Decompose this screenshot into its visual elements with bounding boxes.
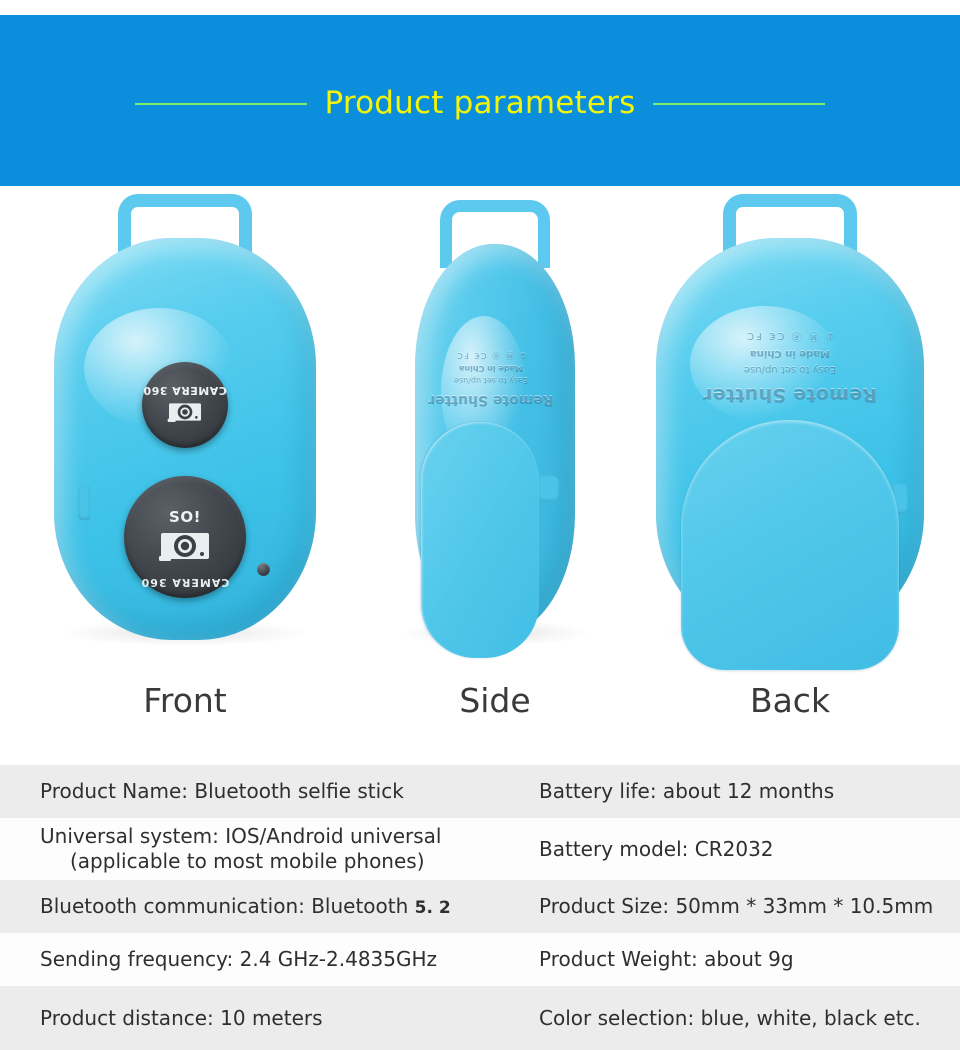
product-parameters-page: Product parameters CAMERA 360 bbox=[0, 0, 960, 1050]
battery-cover-back bbox=[681, 420, 899, 670]
page-title: Product parameters bbox=[325, 88, 636, 119]
made-in-china-side: Made in China bbox=[425, 364, 557, 373]
spec-cell-left: Product distance: 10 meters bbox=[0, 1006, 525, 1031]
product-view-side: ① Ⓜ Ⓡ C€ FC Made in China Easy to set up… bbox=[370, 186, 620, 656]
spec-cell-left: Bluetooth communication: Bluetooth 5. 2 bbox=[0, 894, 525, 919]
spec-row: Universal system: IOS/Android universal … bbox=[0, 818, 960, 880]
spec-cell-left: Sending frequency: 2.4 GHz-2.4835GHz bbox=[0, 947, 525, 972]
spec-row: Product Name: Bluetooth selfie stick Bat… bbox=[0, 765, 960, 818]
caption-back: Back bbox=[620, 684, 960, 717]
spec-cell-right: Color selection: blue, white, black etc. bbox=[525, 1006, 960, 1031]
shutter-button-bottom-arc: CAMERA 360 bbox=[124, 576, 246, 589]
product-views: CAMERA 360 SO! bbox=[0, 186, 960, 686]
spec-text-main: Bluetooth communication: Bluetooth bbox=[40, 894, 415, 918]
shutter-button-bottom-label: SO! bbox=[169, 510, 201, 525]
easy-setup-side: Easy to set up/use bbox=[425, 376, 557, 385]
cert-marks-back: ① Ⓜ Ⓡ C€ FC bbox=[656, 330, 924, 345]
brand-text-side: Remote Shutter bbox=[425, 392, 557, 408]
remote-body-side: ① Ⓜ Ⓡ C€ FC Made in China Easy to set up… bbox=[415, 244, 575, 636]
page-banner: Product parameters bbox=[0, 15, 960, 186]
spec-cell-left: Product Name: Bluetooth selfie stick bbox=[0, 779, 525, 804]
caption-front: Front bbox=[20, 684, 350, 717]
easy-setup-back: Easy to set up/use bbox=[656, 364, 924, 375]
battery-cover-side bbox=[421, 422, 539, 658]
remote-side: ① Ⓜ Ⓡ C€ FC Made in China Easy to set up… bbox=[370, 186, 620, 656]
remote-body-back: ① Ⓜ Ⓡ C€ FC Made in China Easy to set up… bbox=[656, 238, 924, 642]
banner-rule-left bbox=[135, 103, 307, 105]
brand-text-back: Remote Shutter bbox=[656, 384, 924, 406]
side-switch-front bbox=[78, 486, 90, 520]
remote-body-front: CAMERA 360 SO! bbox=[54, 238, 316, 640]
spec-row: Sending frequency: 2.4 GHz-2.4835GHz Pro… bbox=[0, 933, 960, 986]
product-showcase: CAMERA 360 SO! bbox=[0, 186, 960, 765]
banner-inner: Product parameters bbox=[135, 88, 826, 119]
spec-row: Bluetooth communication: Bluetooth 5. 2 … bbox=[0, 880, 960, 933]
spec-row: Product distance: 10 meters Color select… bbox=[0, 986, 960, 1050]
product-view-front: CAMERA 360 SO! bbox=[20, 186, 350, 656]
spec-cell-left: Universal system: IOS/Android universal … bbox=[0, 824, 525, 874]
spec-cell-right: Product Weight: about 9g bbox=[525, 947, 960, 972]
shutter-button-top[interactable]: CAMERA 360 bbox=[142, 362, 228, 448]
spec-text-version: 5. 2 bbox=[415, 898, 451, 918]
shutter-button-bottom[interactable]: SO! CAMERA 360 bbox=[124, 476, 246, 598]
spec-table: Product Name: Bluetooth selfie stick Bat… bbox=[0, 765, 960, 1050]
spec-text-main: Universal system: IOS/Android universal bbox=[40, 824, 441, 848]
spec-cell-right: Product Size: 50mm * 33mm * 10.5mm bbox=[525, 894, 960, 919]
caption-side: Side bbox=[370, 684, 620, 717]
banner-rule-right bbox=[653, 103, 825, 105]
shutter-button-top-label: CAMERA 360 bbox=[143, 385, 227, 396]
camera-icon bbox=[158, 527, 212, 565]
cert-marks-side: ① Ⓜ Ⓡ C€ FC bbox=[425, 350, 557, 361]
remote-front: CAMERA 360 SO! bbox=[20, 186, 350, 656]
remote-back: ① Ⓜ Ⓡ C€ FC Made in China Easy to set up… bbox=[620, 186, 960, 656]
led-indicator bbox=[257, 563, 270, 576]
spec-text-sub: (applicable to most mobile phones) bbox=[40, 849, 517, 874]
camera-icon bbox=[167, 399, 203, 425]
spec-cell-right: Battery life: about 12 months bbox=[525, 779, 960, 804]
power-switch-side bbox=[537, 476, 559, 502]
product-view-back: ① Ⓜ Ⓡ C€ FC Made in China Easy to set up… bbox=[620, 186, 960, 656]
spec-cell-right: Battery model: CR2032 bbox=[525, 837, 960, 862]
made-in-china-back: Made in China bbox=[656, 348, 924, 359]
view-captions: Front Side Back bbox=[0, 684, 960, 748]
